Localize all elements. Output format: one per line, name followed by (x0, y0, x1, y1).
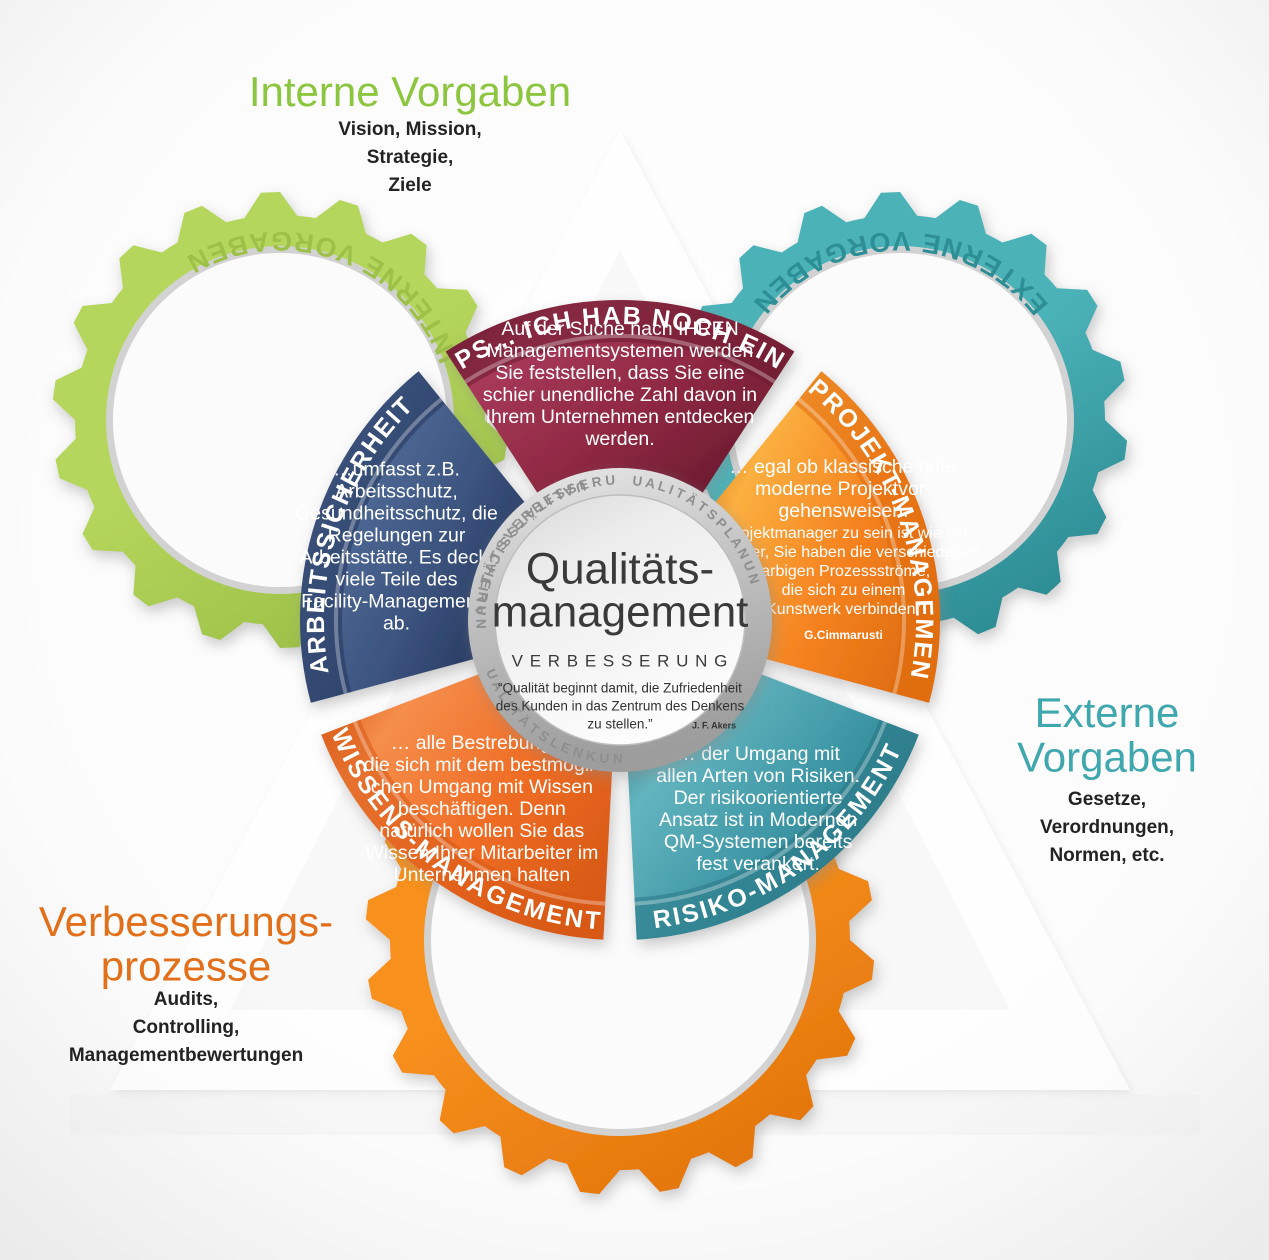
caption-line: Normen, etc. (1049, 845, 1164, 866)
hub-title-line2: management (492, 588, 749, 637)
caption-heading: Interne Vorgaben (249, 68, 571, 115)
hub-subtitle: V E R B E S S E R U N G (512, 651, 729, 670)
hub-title-line1: Qualitäts- (526, 545, 714, 594)
caption-line: Strategie, (367, 147, 454, 168)
caption-line: Managementbewertungen (69, 1045, 303, 1066)
hub-quote-line-3: zu stellen.” (587, 717, 652, 732)
caption-heading: Verbesserungs- (39, 898, 333, 945)
caption-heading: prozesse (101, 943, 271, 990)
diagram-root: INTERNE VORGABENEXTERNE VORGABENÜBERPRÜF… (0, 0, 1269, 1260)
caption-line: Audits, (154, 989, 218, 1010)
caption-line: Verordnungen, (1040, 817, 1174, 838)
caption-heading: Externe (1035, 689, 1180, 736)
hub-quote-line-2: des Kunden in das Zentrum des Denkens (496, 699, 745, 714)
caption-line: Ziele (388, 175, 431, 196)
diagram-canvas: INTERNE VORGABENEXTERNE VORGABENÜBERPRÜF… (0, 0, 1269, 1260)
caption-line: Controlling, (133, 1017, 240, 1038)
caption-heading: Vorgaben (1017, 734, 1197, 781)
caption-line: Gesetze, (1068, 789, 1146, 810)
hub-quote-line-1: “Qualität beginnt damit, die Zufriedenhe… (498, 681, 742, 696)
hub-quote-author: J. F. Akers (692, 720, 736, 730)
caption-line: Vision, Mission, (338, 119, 481, 140)
